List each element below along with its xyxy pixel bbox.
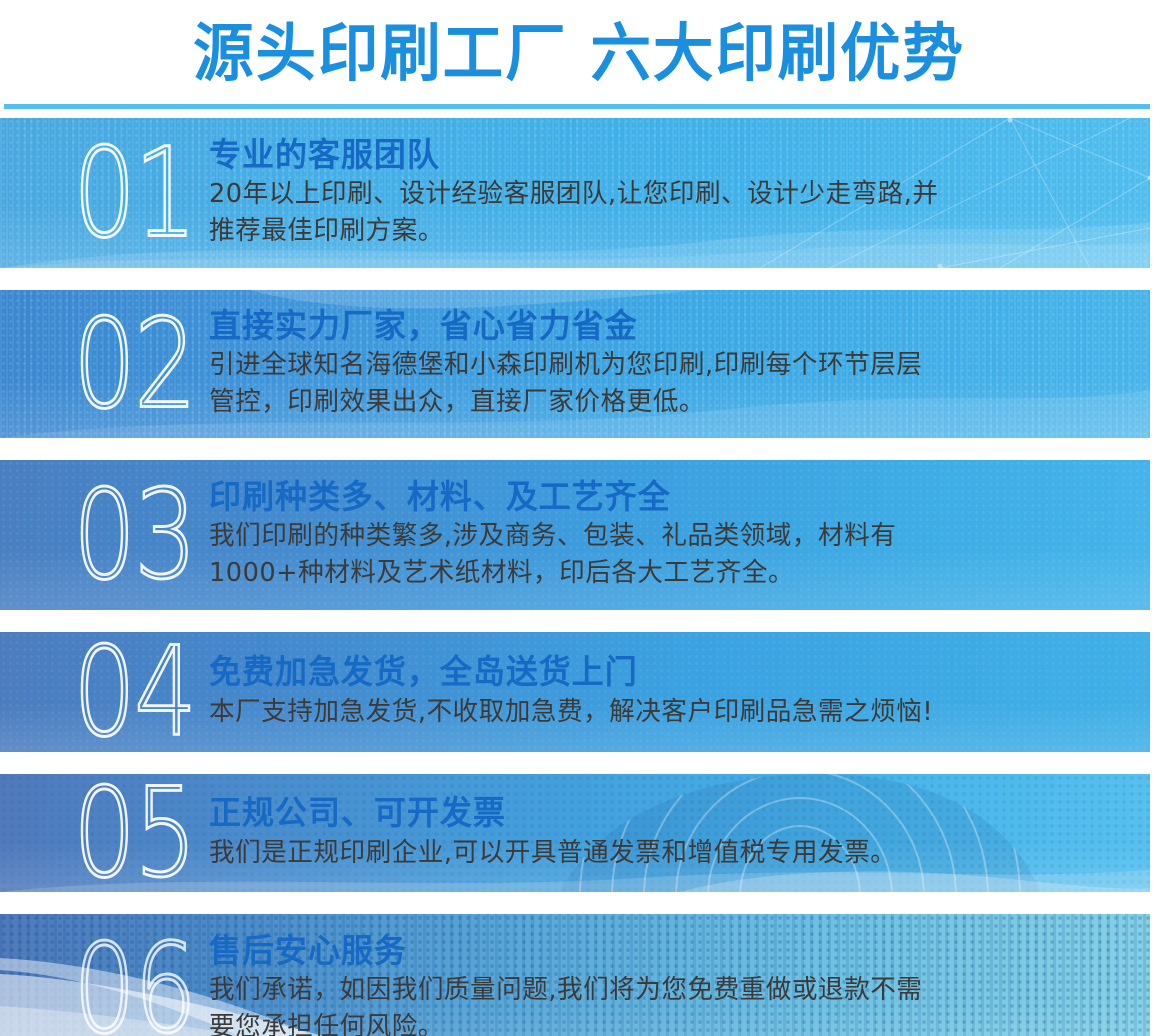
header-divider [4, 104, 1150, 109]
list-item[interactable]: 02 直接实力厂家，省心省力省金 引进全球知名海德堡和小森印刷机为您印刷,印刷每… [0, 290, 1150, 438]
item-body: 我们印刷的种类繁多,涉及商务、包装、礼品类领域，材料有 1000+种材料及艺术纸… [209, 518, 1120, 592]
item-body: 20年以上印刷、设计经验客服团队,让您印刷、设计少走弯路,并 推荐最佳印刷方案。 [209, 176, 1120, 250]
item-number: 02 [73, 303, 192, 426]
poster-header: 源头印刷工厂 六大印刷优势 [0, 0, 1158, 106]
promo-poster: 源头印刷工厂 六大印刷优势 [0, 0, 1158, 1036]
advantage-list: 01 专业的客服团队 20年以上印刷、设计经验客服团队,让您印刷、设计少走弯路,… [0, 118, 1158, 1036]
item-title: 免费加急发货，全岛送货上门 [209, 653, 1106, 691]
item-title: 售后安心服务 [209, 932, 1106, 970]
item-body: 本厂支持加急发货,不收取加急费，解决客户印刷品急需之烦恼! [209, 694, 1120, 731]
item-body-line: 1000+种材料及艺术纸材料，印后各大工艺齐全。 [209, 555, 1120, 592]
list-item[interactable]: 04 免费加急发货，全岛送货上门 本厂支持加急发货,不收取加急费，解决客户印刷品… [0, 632, 1150, 752]
item-body-line: 我们承诺，如因我们质量问题,我们将为您免费重做或退款不需 [209, 972, 1120, 1009]
item-title: 专业的客服团队 [209, 136, 1106, 174]
list-item[interactable]: 01 专业的客服团队 20年以上印刷、设计经验客服团队,让您印刷、设计少走弯路,… [0, 118, 1150, 268]
list-item[interactable]: 05 正规公司、可开发票 我们是正规印刷企业,可以开具普通发票和增值税专用发票。 [0, 774, 1150, 892]
item-body-line: 要您承担任何风险。 [209, 1009, 1120, 1036]
item-body: 我们承诺，如因我们质量问题,我们将为您免费重做或退款不需 要您承担任何风险。 [209, 972, 1120, 1036]
list-item[interactable]: 03 印刷种类多、材料、及工艺齐全 我们印刷的种类繁多,涉及商务、包装、礼品类领… [0, 460, 1150, 610]
item-body-line: 推荐最佳印刷方案。 [209, 213, 1120, 250]
page-title: 源头印刷工厂 六大印刷优势 [193, 22, 965, 85]
list-item[interactable]: 06 售后安心服务 我们承诺，如因我们质量问题,我们将为您免费重做或退款不需 要… [0, 914, 1150, 1036]
item-text: 正规公司、可开发票 我们是正规印刷企业,可以开具普通发票和增值税专用发票。 [195, 794, 1150, 871]
item-body: 引进全球知名海德堡和小森印刷机为您印刷,印刷每个环节层层 管控，印刷效果出众，直… [209, 347, 1120, 421]
item-title: 直接实力厂家，省心省力省金 [209, 307, 1106, 345]
item-text: 专业的客服团队 20年以上印刷、设计经验客服团队,让您印刷、设计少走弯路,并 推… [195, 136, 1150, 250]
item-number: 03 [73, 474, 192, 597]
item-body: 我们是正规印刷企业,可以开具普通发票和增值税专用发票。 [209, 835, 1120, 872]
item-text: 售后安心服务 我们承诺，如因我们质量问题,我们将为您免费重做或退款不需 要您承担… [195, 932, 1150, 1036]
item-title: 正规公司、可开发票 [209, 794, 1106, 832]
item-body-line: 我们是正规印刷企业,可以开具普通发票和增值税专用发票。 [209, 835, 1120, 872]
item-body-line: 本厂支持加急发货,不收取加急费，解决客户印刷品急需之烦恼! [209, 694, 1120, 731]
item-body-line: 引进全球知名海德堡和小森印刷机为您印刷,印刷每个环节层层 [209, 347, 1120, 384]
item-number: 01 [73, 132, 192, 255]
item-text: 直接实力厂家，省心省力省金 引进全球知名海德堡和小森印刷机为您印刷,印刷每个环节… [195, 307, 1150, 421]
item-body-line: 20年以上印刷、设计经验客服团队,让您印刷、设计少走弯路,并 [209, 176, 1120, 213]
item-number: 04 [73, 632, 192, 752]
item-text: 印刷种类多、材料、及工艺齐全 我们印刷的种类繁多,涉及商务、包装、礼品类领域，材… [195, 478, 1150, 592]
item-text: 免费加急发货，全岛送货上门 本厂支持加急发货,不收取加急费，解决客户印刷品急需之… [195, 653, 1150, 730]
item-number: 05 [73, 774, 192, 892]
item-body-line: 我们印刷的种类繁多,涉及商务、包装、礼品类领域，材料有 [209, 518, 1120, 555]
item-body-line: 管控，印刷效果出众，直接厂家价格更低。 [209, 384, 1120, 421]
item-title: 印刷种类多、材料、及工艺齐全 [209, 478, 1106, 516]
item-number: 06 [73, 928, 192, 1036]
